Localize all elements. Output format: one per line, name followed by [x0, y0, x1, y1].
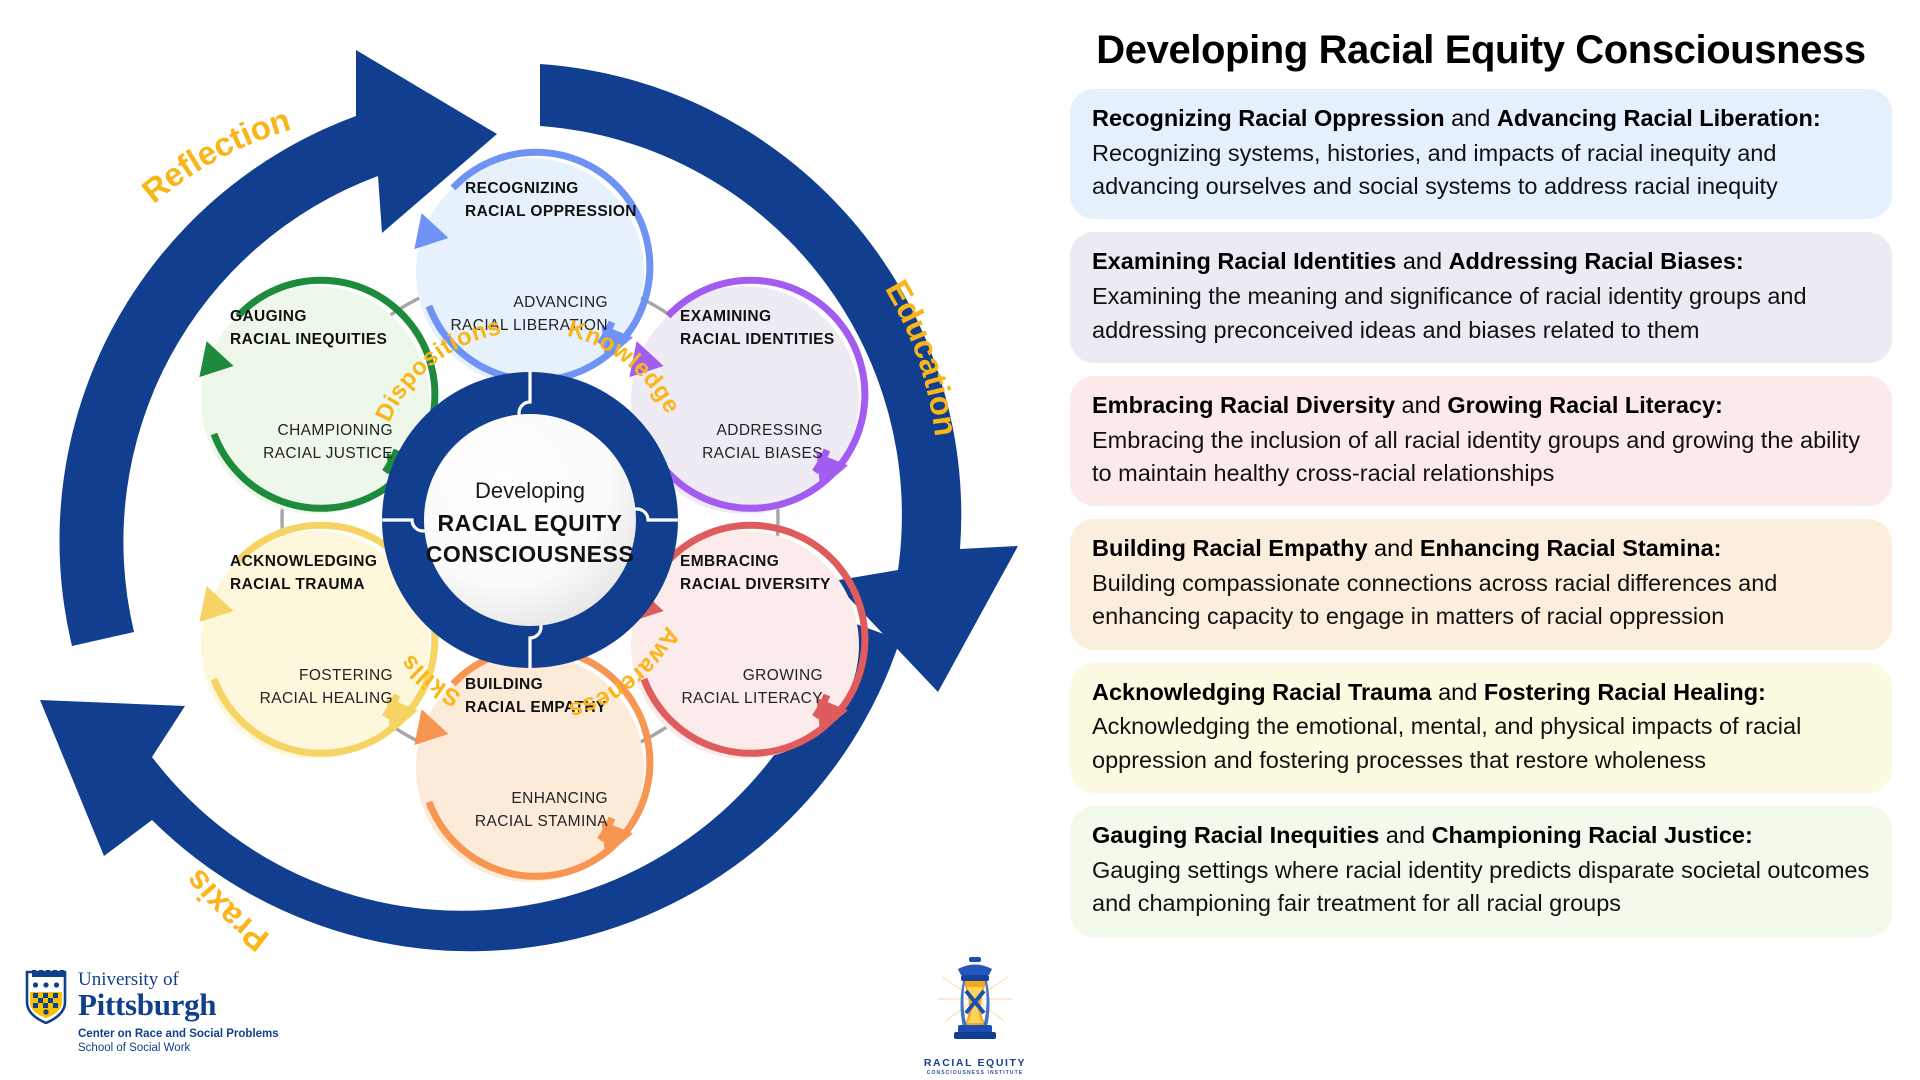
panel-title-conjunction: and [1432, 679, 1484, 705]
page-title: Developing Racial Equity Consciousness [1070, 28, 1892, 73]
panel-body: Embracing the inclusion of all racial id… [1092, 424, 1870, 491]
panel-title-term-b: Growing Racial Literacy: [1447, 392, 1723, 418]
pitt-logo-center-name: Center on Race and Social Problems [78, 1027, 279, 1041]
panel-title: Examining Racial Identities and Addressi… [1092, 246, 1870, 278]
panel-title-term-a: Gauging Racial Inequities [1092, 822, 1379, 848]
panel-title-term-a: Embracing Racial Diversity [1092, 392, 1395, 418]
panel-body: Gauging settings where racial identity p… [1092, 854, 1870, 921]
panel-title: Gauging Racial Inequities and Championin… [1092, 820, 1870, 852]
panel-title: Acknowledging Racial Trauma and Fosterin… [1092, 677, 1870, 709]
lantern-icon [936, 955, 1014, 1051]
node-label-reg2: RACIAL HEALING [260, 690, 393, 707]
node-label-reg2: RACIAL JUSTICE [263, 445, 393, 462]
panel-title-term-a: Building Racial Empathy [1092, 535, 1368, 561]
panel-title: Building Racial Empathy and Enhancing Ra… [1092, 533, 1870, 565]
panel-title-term-b: Fostering Racial Healing: [1484, 679, 1766, 705]
pitt-logo-school-name: School of Social Work [78, 1041, 279, 1055]
panel-title-term-b: Addressing Racial Biases: [1449, 248, 1744, 274]
center-puzzle-ring: Knowledge Awareness Skills Dispositions … [370, 313, 685, 724]
node-label-bold: EXAMINING [680, 308, 771, 325]
description-panel[interactable]: Gauging Racial Inequities and Championin… [1070, 806, 1892, 936]
panel-title-term-b: Enhancing Racial Stamina: [1420, 535, 1722, 561]
description-panel[interactable]: Embracing Racial Diversity and Growing R… [1070, 376, 1892, 506]
node-label-bold2: RACIAL TRAUMA [230, 576, 365, 593]
panel-title-term-a: Recognizing Racial Oppression [1092, 105, 1445, 131]
panel-title-term-b: Championing Racial Justice: [1432, 822, 1753, 848]
panel-body: Recognizing systems, histories, and impa… [1092, 137, 1870, 204]
racial-equity-cycle-diagram: Reflection Education Praxis [0, 0, 1060, 1080]
pitt-shield-icon [24, 968, 68, 1024]
node-label-bold: GAUGING [230, 308, 307, 325]
node-label-bold2: RACIAL OPPRESSION [465, 203, 637, 220]
panel-title-conjunction: and [1445, 105, 1497, 131]
node-label-reg2: RACIAL LITERACY [681, 690, 823, 707]
description-panel[interactable]: Acknowledging Racial Trauma and Fosterin… [1070, 663, 1892, 793]
node-label-reg: CHAMPIONING [278, 422, 394, 439]
node-label-bold: ACKNOWLEDGING [230, 553, 377, 570]
node-label-reg2: RACIAL STAMINA [475, 813, 608, 830]
panel-title: Embracing Racial Diversity and Growing R… [1092, 390, 1870, 422]
lantern-logo-line-1: RACIAL EQUITY [915, 1057, 1035, 1069]
panel-title-conjunction: and [1395, 392, 1447, 418]
university-of-pittsburgh-logo: University of Pittsburgh Center on Race … [24, 968, 279, 1055]
panel-body: Examining the meaning and significance o… [1092, 280, 1870, 347]
panel-title-term-a: Examining Racial Identities [1092, 248, 1396, 274]
lantern-logo-line-2: CONSCIOUSNESS INSTITUTE [915, 1070, 1035, 1076]
panel-body: Acknowledging the emotional, mental, and… [1092, 710, 1870, 777]
node-label-bold: RECOGNIZING [465, 180, 579, 197]
panel-list: Recognizing Racial Oppression and Advanc… [1070, 89, 1892, 937]
node-label-reg: ENHANCING [511, 790, 608, 807]
node-label-bold2: RACIAL DIVERSITY [680, 576, 831, 593]
node-label-reg: ADVANCING [513, 294, 608, 311]
description-panel[interactable]: Recognizing Racial Oppression and Advanc… [1070, 89, 1892, 219]
core-line-2: RACIAL EQUITY [438, 510, 623, 536]
panel-title-conjunction: and [1396, 248, 1448, 274]
core-line-3: CONSCIOUSNESS [426, 541, 634, 567]
panel-title-term-b: Advancing Racial Liberation: [1497, 105, 1821, 131]
racial-equity-consciousness-institute-logo: RACIAL EQUITY CONSCIOUSNESS INSTITUTE [915, 955, 1035, 1076]
descriptions-pane: Developing Racial Equity Consciousness R… [1060, 0, 1920, 1080]
node-label-reg: FOSTERING [299, 667, 393, 684]
diagram-pane: Reflection Education Praxis [0, 0, 1060, 1080]
node-label-bold: BUILDING [465, 676, 543, 693]
description-panel[interactable]: Examining Racial Identities and Addressi… [1070, 232, 1892, 362]
panel-title: Recognizing Racial Oppression and Advanc… [1092, 103, 1870, 135]
panel-title-conjunction: and [1379, 822, 1431, 848]
node-label-reg2: RACIAL BIASES [702, 445, 823, 462]
node-label-reg: GROWING [743, 667, 823, 684]
node-label-bold2: RACIAL INEQUITIES [230, 331, 387, 348]
node-label-reg: ADDRESSING [717, 422, 824, 439]
pitt-logo-line-2: Pittsburgh [78, 989, 279, 1022]
panel-title-conjunction: and [1368, 535, 1420, 561]
panel-title-term-a: Acknowledging Racial Trauma [1092, 679, 1432, 705]
panel-body: Building compassionate connections acros… [1092, 567, 1870, 634]
node-label-bold2: RACIAL IDENTITIES [680, 331, 835, 348]
description-panel[interactable]: Building Racial Empathy and Enhancing Ra… [1070, 519, 1892, 649]
node-label-bold: EMBRACING [680, 553, 779, 570]
core-line-1: Developing [475, 478, 585, 503]
